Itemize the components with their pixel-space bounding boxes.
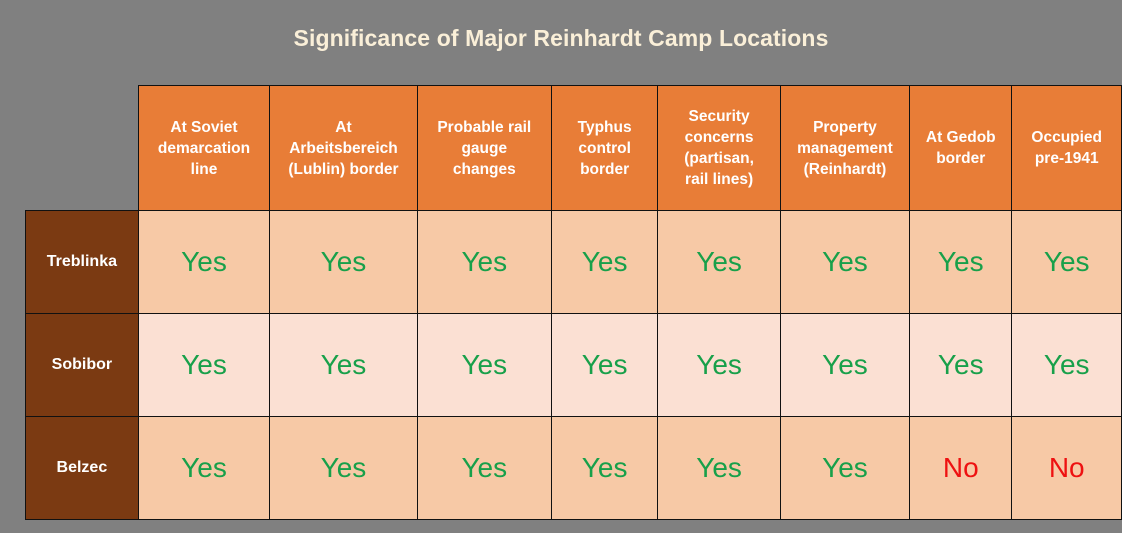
row-label-treblinka: Treblinka <box>26 211 139 314</box>
cell-belzec-occupied-pre-1941: No <box>1012 417 1122 520</box>
header-line: gauge <box>422 138 547 159</box>
cell-sobibor-soviet-demarcation-line: Yes <box>138 314 269 417</box>
cell-sobibor-security-concerns: Yes <box>658 314 780 417</box>
header-line: (Reinhardt) <box>785 159 905 180</box>
column-header-security-concerns: Security concerns (partisan, rail lines) <box>658 86 780 211</box>
header-line: Occupied <box>1016 127 1117 148</box>
cell-sobibor-typhus-control-border: Yes <box>551 314 657 417</box>
cell-belzec-property-management: Yes <box>780 417 909 520</box>
cell-belzec-security-concerns: Yes <box>658 417 780 520</box>
cell-belzec-probable-rail-gauge-changes: Yes <box>417 417 551 520</box>
header-line: Arbeitsbereich <box>274 138 413 159</box>
cell-sobibor-probable-rail-gauge-changes: Yes <box>417 314 551 417</box>
header-line: Property <box>785 117 905 138</box>
header-line: changes <box>422 159 547 180</box>
cell-belzec-typhus-control-border: Yes <box>551 417 657 520</box>
significance-matrix-table: At Soviet demarcation line At Arbeitsber… <box>25 85 1122 520</box>
header-line: management <box>785 138 905 159</box>
cell-treblinka-probable-rail-gauge-changes: Yes <box>417 211 551 314</box>
header-line: (Lublin) border <box>274 159 413 180</box>
column-header-arbeitsbereich-lublin-border: At Arbeitsbereich (Lublin) border <box>270 86 418 211</box>
row-label-sobibor: Sobibor <box>26 314 139 417</box>
cell-sobibor-property-management: Yes <box>780 314 909 417</box>
column-header-soviet-demarcation-line: At Soviet demarcation line <box>138 86 269 211</box>
table-row: Sobibor Yes Yes Yes Yes Yes Yes Yes Yes <box>26 314 1122 417</box>
table-row: Belzec Yes Yes Yes Yes Yes Yes No No <box>26 417 1122 520</box>
cell-treblinka-occupied-pre-1941: Yes <box>1012 211 1122 314</box>
header-line: (partisan, <box>662 148 775 169</box>
header-line: At Gedob <box>914 127 1007 148</box>
cell-belzec-soviet-demarcation-line: Yes <box>138 417 269 520</box>
table-row: Treblinka Yes Yes Yes Yes Yes Yes Yes Ye… <box>26 211 1122 314</box>
header-line: demarcation <box>143 138 265 159</box>
cell-sobibor-occupied-pre-1941: Yes <box>1012 314 1122 417</box>
header-line: At Soviet <box>143 117 265 138</box>
header-line: Typhus <box>556 117 653 138</box>
table-corner-cell <box>26 86 139 211</box>
cell-belzec-arbeitsbereich-lublin-border: Yes <box>270 417 418 520</box>
header-line: border <box>914 148 1007 169</box>
column-header-occupied-pre-1941: Occupied pre-1941 <box>1012 86 1122 211</box>
header-line: Security <box>662 106 775 127</box>
cell-belzec-at-gedob-border: No <box>910 417 1012 520</box>
cell-sobibor-at-gedob-border: Yes <box>910 314 1012 417</box>
header-line: concerns <box>662 127 775 148</box>
cell-treblinka-property-management: Yes <box>780 211 909 314</box>
header-line: pre-1941 <box>1016 148 1117 169</box>
cell-sobibor-arbeitsbereich-lublin-border: Yes <box>270 314 418 417</box>
cell-treblinka-arbeitsbereich-lublin-border: Yes <box>270 211 418 314</box>
header-line: Probable rail <box>422 117 547 138</box>
column-header-probable-rail-gauge-changes: Probable rail gauge changes <box>417 86 551 211</box>
column-header-property-management-reinhardt: Property management (Reinhardt) <box>780 86 909 211</box>
table-header-row: At Soviet demarcation line At Arbeitsber… <box>26 86 1122 211</box>
header-line: control <box>556 138 653 159</box>
cell-treblinka-at-gedob-border: Yes <box>910 211 1012 314</box>
header-line: border <box>556 159 653 180</box>
header-line: line <box>143 159 265 180</box>
page-title: Significance of Major Reinhardt Camp Loc… <box>0 24 1122 52</box>
cell-treblinka-soviet-demarcation-line: Yes <box>138 211 269 314</box>
row-label-belzec: Belzec <box>26 417 139 520</box>
header-line: At <box>274 117 413 138</box>
column-header-at-gedob-border: At Gedob border <box>910 86 1012 211</box>
cell-treblinka-security-concerns: Yes <box>658 211 780 314</box>
cell-treblinka-typhus-control-border: Yes <box>551 211 657 314</box>
header-line: rail lines) <box>662 169 775 190</box>
column-header-typhus-control-border: Typhus control border <box>551 86 657 211</box>
